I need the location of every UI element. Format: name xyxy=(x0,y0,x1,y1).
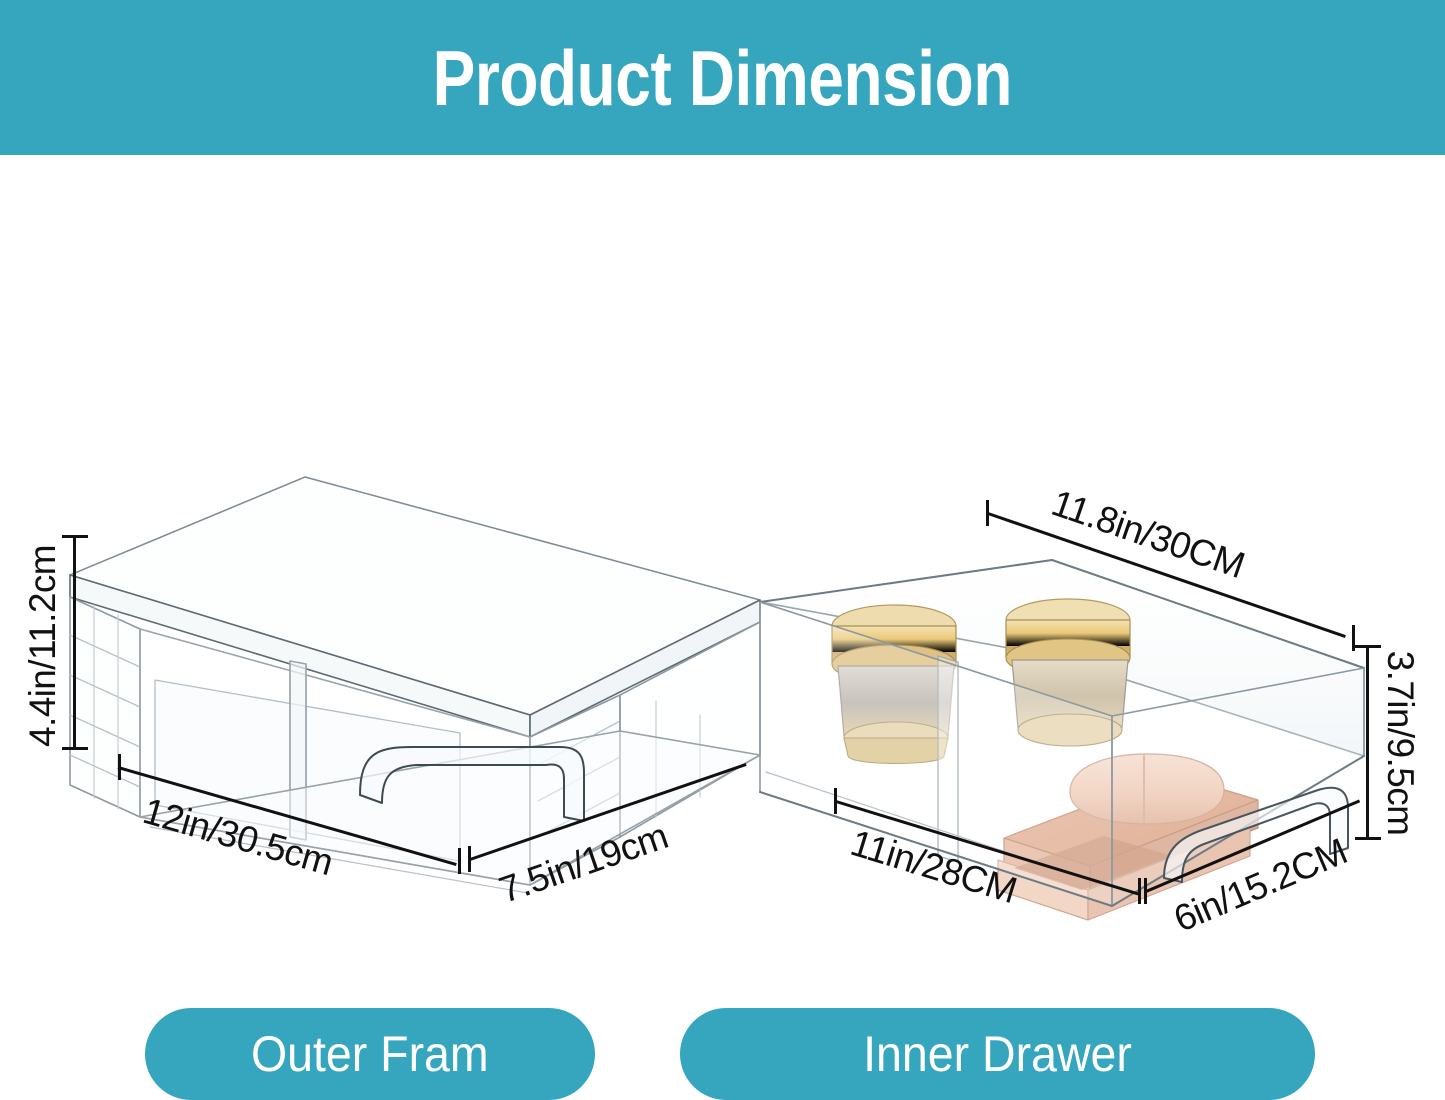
dimension-cap-start xyxy=(834,788,837,814)
inner-drawer-caption-pill[interactable]: Inner Drawer xyxy=(680,1008,1315,1100)
dimension-cap-start xyxy=(986,500,989,526)
dimension-cap-bottom xyxy=(1355,837,1381,840)
dimension-cap-bottom xyxy=(62,747,88,750)
inner-drawer-caption-label: Inner Drawer xyxy=(863,1029,1132,1079)
dimension-cap-end xyxy=(458,848,461,874)
outer-frame-caption-label: Outer Fram xyxy=(251,1029,489,1079)
page-title: Product Dimension xyxy=(433,39,1012,117)
dimension-cap-end xyxy=(1138,878,1141,904)
dimension-cap-top xyxy=(62,535,88,538)
outer-frame-caption-pill[interactable]: Outer Fram xyxy=(145,1008,595,1100)
inner-drawer-height-label: 3.7in/9.5cm xyxy=(1379,623,1421,863)
dimension-cap-top xyxy=(1355,645,1381,648)
header-banner: Product Dimension xyxy=(0,0,1445,155)
dimension-line xyxy=(73,535,76,750)
outer-frame-height-label: 4.4in/11.2cm xyxy=(22,511,64,781)
infographic-canvas: Product Dimension xyxy=(0,0,1445,1091)
dimension-cap-start xyxy=(468,846,471,872)
dimension-cap-start xyxy=(118,754,121,780)
dimension-line xyxy=(1366,645,1369,840)
dimension-cap-start xyxy=(1144,878,1147,904)
